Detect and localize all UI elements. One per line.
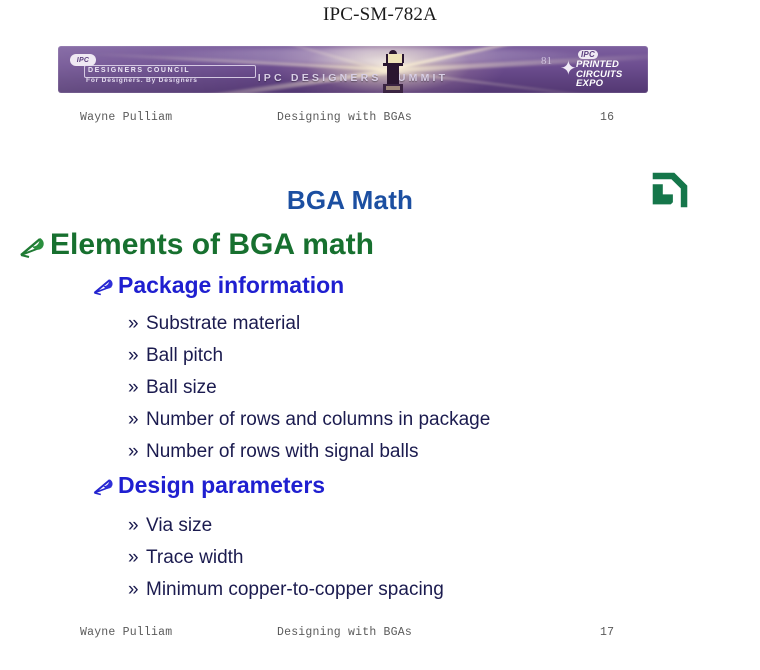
banner-slide-number: 81 — [541, 55, 552, 67]
bullet-level3-item: » Number of rows with signal balls — [128, 441, 418, 463]
bullet-level2-label: Design parameters — [118, 472, 325, 499]
footer-author: Wayne Pulliam — [80, 626, 172, 639]
level3-marker: » — [128, 515, 146, 537]
bullet-level3-label: Ball size — [146, 377, 217, 399]
level3-marker: » — [128, 313, 146, 335]
footer-author: Wayne Pulliam — [80, 111, 172, 124]
amd-logo-icon — [652, 172, 688, 208]
bullet-level3-label: Number of rows with signal balls — [146, 441, 418, 463]
level3-marker: » — [128, 579, 146, 601]
document-standard-title: IPC-SM-782A — [0, 4, 760, 26]
designers-council-tagline: For Designers. By Designers — [86, 77, 198, 84]
bullet-level1-label: Elements of BGA math — [50, 228, 374, 262]
footer-title: Designing with BGAs — [277, 626, 412, 639]
bullet-level2-label: Package information — [118, 272, 344, 299]
bullet-level3-item: » Minimum copper-to-copper spacing — [128, 579, 444, 601]
footer-title: Designing with BGAs — [277, 111, 412, 124]
page-title: BGA Math — [0, 185, 700, 216]
level3-marker: » — [128, 547, 146, 569]
footer-page-number: 16 — [600, 111, 614, 124]
expo-name: PRINTED CIRCUITS EXPO — [576, 60, 622, 89]
bullet-level3-item: » Ball size — [128, 377, 217, 399]
pen-bullet-icon — [18, 234, 48, 260]
bullet-level3-label: Ball pitch — [146, 345, 223, 367]
pen-bullet-icon — [92, 276, 116, 297]
expo-line-3: EXPO — [576, 79, 622, 89]
level3-marker: » — [128, 441, 146, 463]
bullet-level3-item: » Number of rows and columns in package — [128, 409, 490, 431]
bullet-level2-package-information: Package information — [92, 272, 344, 299]
slide-top-fragment: IPC-SM-782A IPC DESIGNERS SUMMIT IPC DES… — [0, 0, 760, 138]
bullet-level3-item: » Ball pitch — [128, 345, 223, 367]
bullet-level3-item: » Via size — [128, 515, 212, 537]
bullet-level3-label: Trace width — [146, 547, 244, 569]
designers-council-logo: IPC DESIGNERS COUNCIL For Designers. By … — [70, 54, 260, 86]
expo-banner: IPC DESIGNERS SUMMIT IPC DESIGNERS COUNC… — [58, 46, 648, 93]
level3-marker: » — [128, 377, 146, 399]
pen-bullet-icon — [92, 476, 116, 497]
slide-bga-math: BGA Math Elements of BGA math — [0, 150, 760, 620]
bullet-level2-design-parameters: Design parameters — [92, 472, 325, 499]
bullet-level3-label: Substrate material — [146, 313, 300, 335]
bullet-level3-label: Number of rows and columns in package — [146, 409, 490, 431]
bullet-level3-label: Minimum copper-to-copper spacing — [146, 579, 444, 601]
designers-council-name: DESIGNERS COUNCIL — [88, 66, 256, 75]
slide-footer-top: Wayne Pulliam Designing with BGAs 16 — [0, 111, 760, 127]
level3-marker: » — [128, 345, 146, 367]
bullet-level3-item: » Substrate material — [128, 313, 300, 335]
level3-marker: » — [128, 409, 146, 431]
bullet-level3-item: » Trace width — [128, 547, 244, 569]
bullet-level3-label: Via size — [146, 515, 212, 537]
footer-page-number: 17 — [600, 626, 614, 639]
slide-footer-bottom: Wayne Pulliam Designing with BGAs 17 — [0, 626, 760, 642]
lighthouse-icon — [380, 50, 406, 93]
bullet-level1-elements-of-bga-math: Elements of BGA math — [18, 228, 374, 262]
printed-circuits-expo-logo: ✦ IPC PRINTED CIRCUITS EXPO — [558, 50, 642, 90]
ipc-badge-icon: IPC — [578, 50, 598, 59]
